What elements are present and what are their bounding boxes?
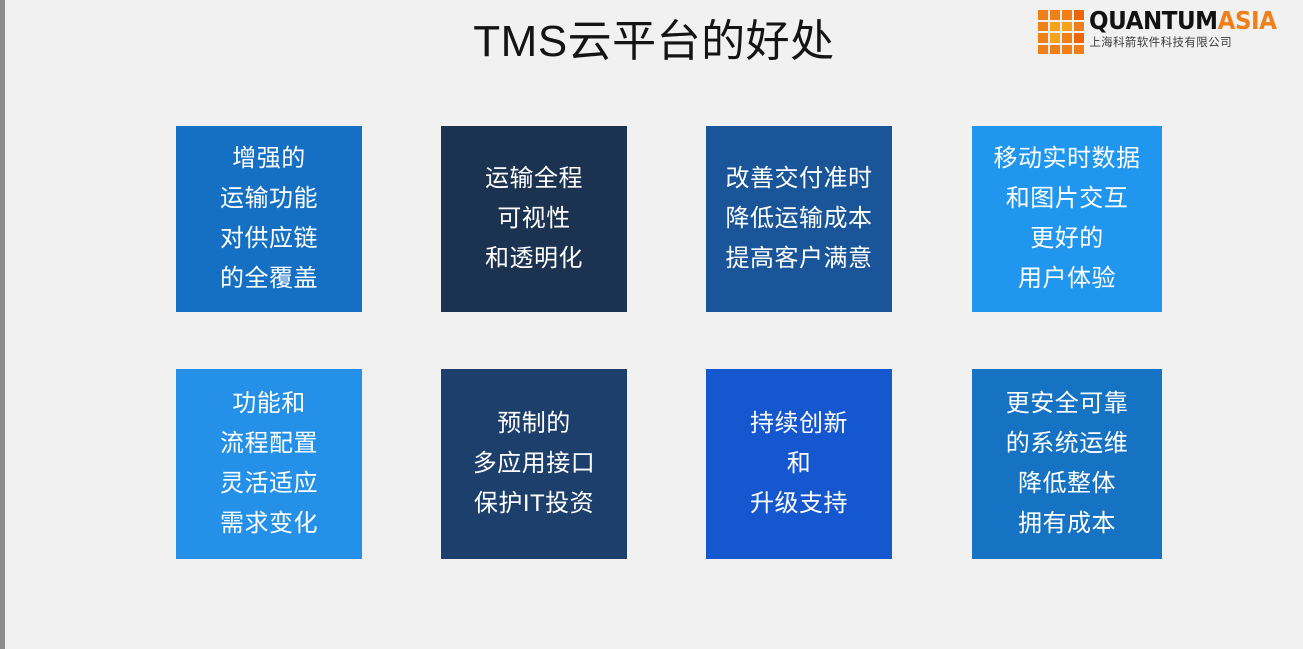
benefit-tile-prebuilt-interfaces[interactable]: 预制的 多应用接口 保护IT投资 — [441, 369, 627, 559]
benefit-tile-grid: 增强的 运输功能 对供应链 的全覆盖 运输全程 可视性 和透明化 改善交付准时 … — [176, 126, 1168, 558]
tile-line: 的全覆盖 — [220, 259, 318, 299]
tile-line: 预制的 — [497, 404, 571, 444]
tile-line: 移动实时数据 — [994, 139, 1141, 179]
tile-line: 灵活适应 — [220, 464, 318, 504]
tile-line: 多应用接口 — [473, 444, 596, 484]
tile-line: 拥有成本 — [1018, 504, 1116, 544]
benefit-tile-on-time-delivery-cost[interactable]: 改善交付准时 降低运输成本 提高客户满意 — [706, 126, 892, 312]
benefit-tile-flexible-configuration[interactable]: 功能和 流程配置 灵活适应 需求变化 — [176, 369, 362, 559]
tile-line: 运输功能 — [220, 179, 318, 219]
tile-line: 更安全可靠 — [1006, 384, 1129, 424]
tile-line: 和图片交互 — [1006, 179, 1129, 219]
tile-line: 改善交付准时 — [726, 159, 873, 199]
tile-line: 降低运输成本 — [726, 199, 873, 239]
tile-line: 升级支持 — [750, 484, 848, 524]
tile-line: 可视性 — [497, 199, 571, 239]
benefit-tile-end-to-end-visibility[interactable]: 运输全程 可视性 和透明化 — [441, 126, 627, 312]
tile-line: 更好的 — [1030, 219, 1104, 259]
slide-canvas: QUANTUMASIA 上海科箭软件科技有限公司 TMS云平台的好处 增强的 运… — [5, 0, 1303, 649]
benefit-tile-enhanced-transport-coverage[interactable]: 增强的 运输功能 对供应链 的全覆盖 — [176, 126, 362, 312]
benefit-tile-continuous-innovation[interactable]: 持续创新 和 升级支持 — [706, 369, 892, 559]
tile-line: 和透明化 — [485, 239, 583, 279]
tile-line: 流程配置 — [220, 424, 318, 464]
tile-line: 降低整体 — [1018, 464, 1116, 504]
benefit-tile-mobile-realtime-data[interactable]: 移动实时数据 和图片交互 更好的 用户体验 — [972, 126, 1162, 312]
benefit-tile-secure-operations-tco[interactable]: 更安全可靠 的系统运维 降低整体 拥有成本 — [972, 369, 1162, 559]
tile-line: 对供应链 — [220, 219, 318, 259]
tile-line: 运输全程 — [485, 159, 583, 199]
page-title: TMS云平台的好处 — [5, 14, 1303, 70]
tile-line: 保护IT投资 — [474, 484, 594, 524]
tile-line: 持续创新 — [750, 404, 848, 444]
tile-line: 的系统运维 — [1006, 424, 1129, 464]
tile-line: 功能和 — [232, 384, 306, 424]
tile-line: 和 — [787, 444, 812, 484]
tile-line: 用户体验 — [1018, 259, 1116, 299]
tile-line: 需求变化 — [220, 504, 318, 544]
tile-line: 增强的 — [232, 139, 306, 179]
tile-line: 提高客户满意 — [726, 239, 873, 279]
